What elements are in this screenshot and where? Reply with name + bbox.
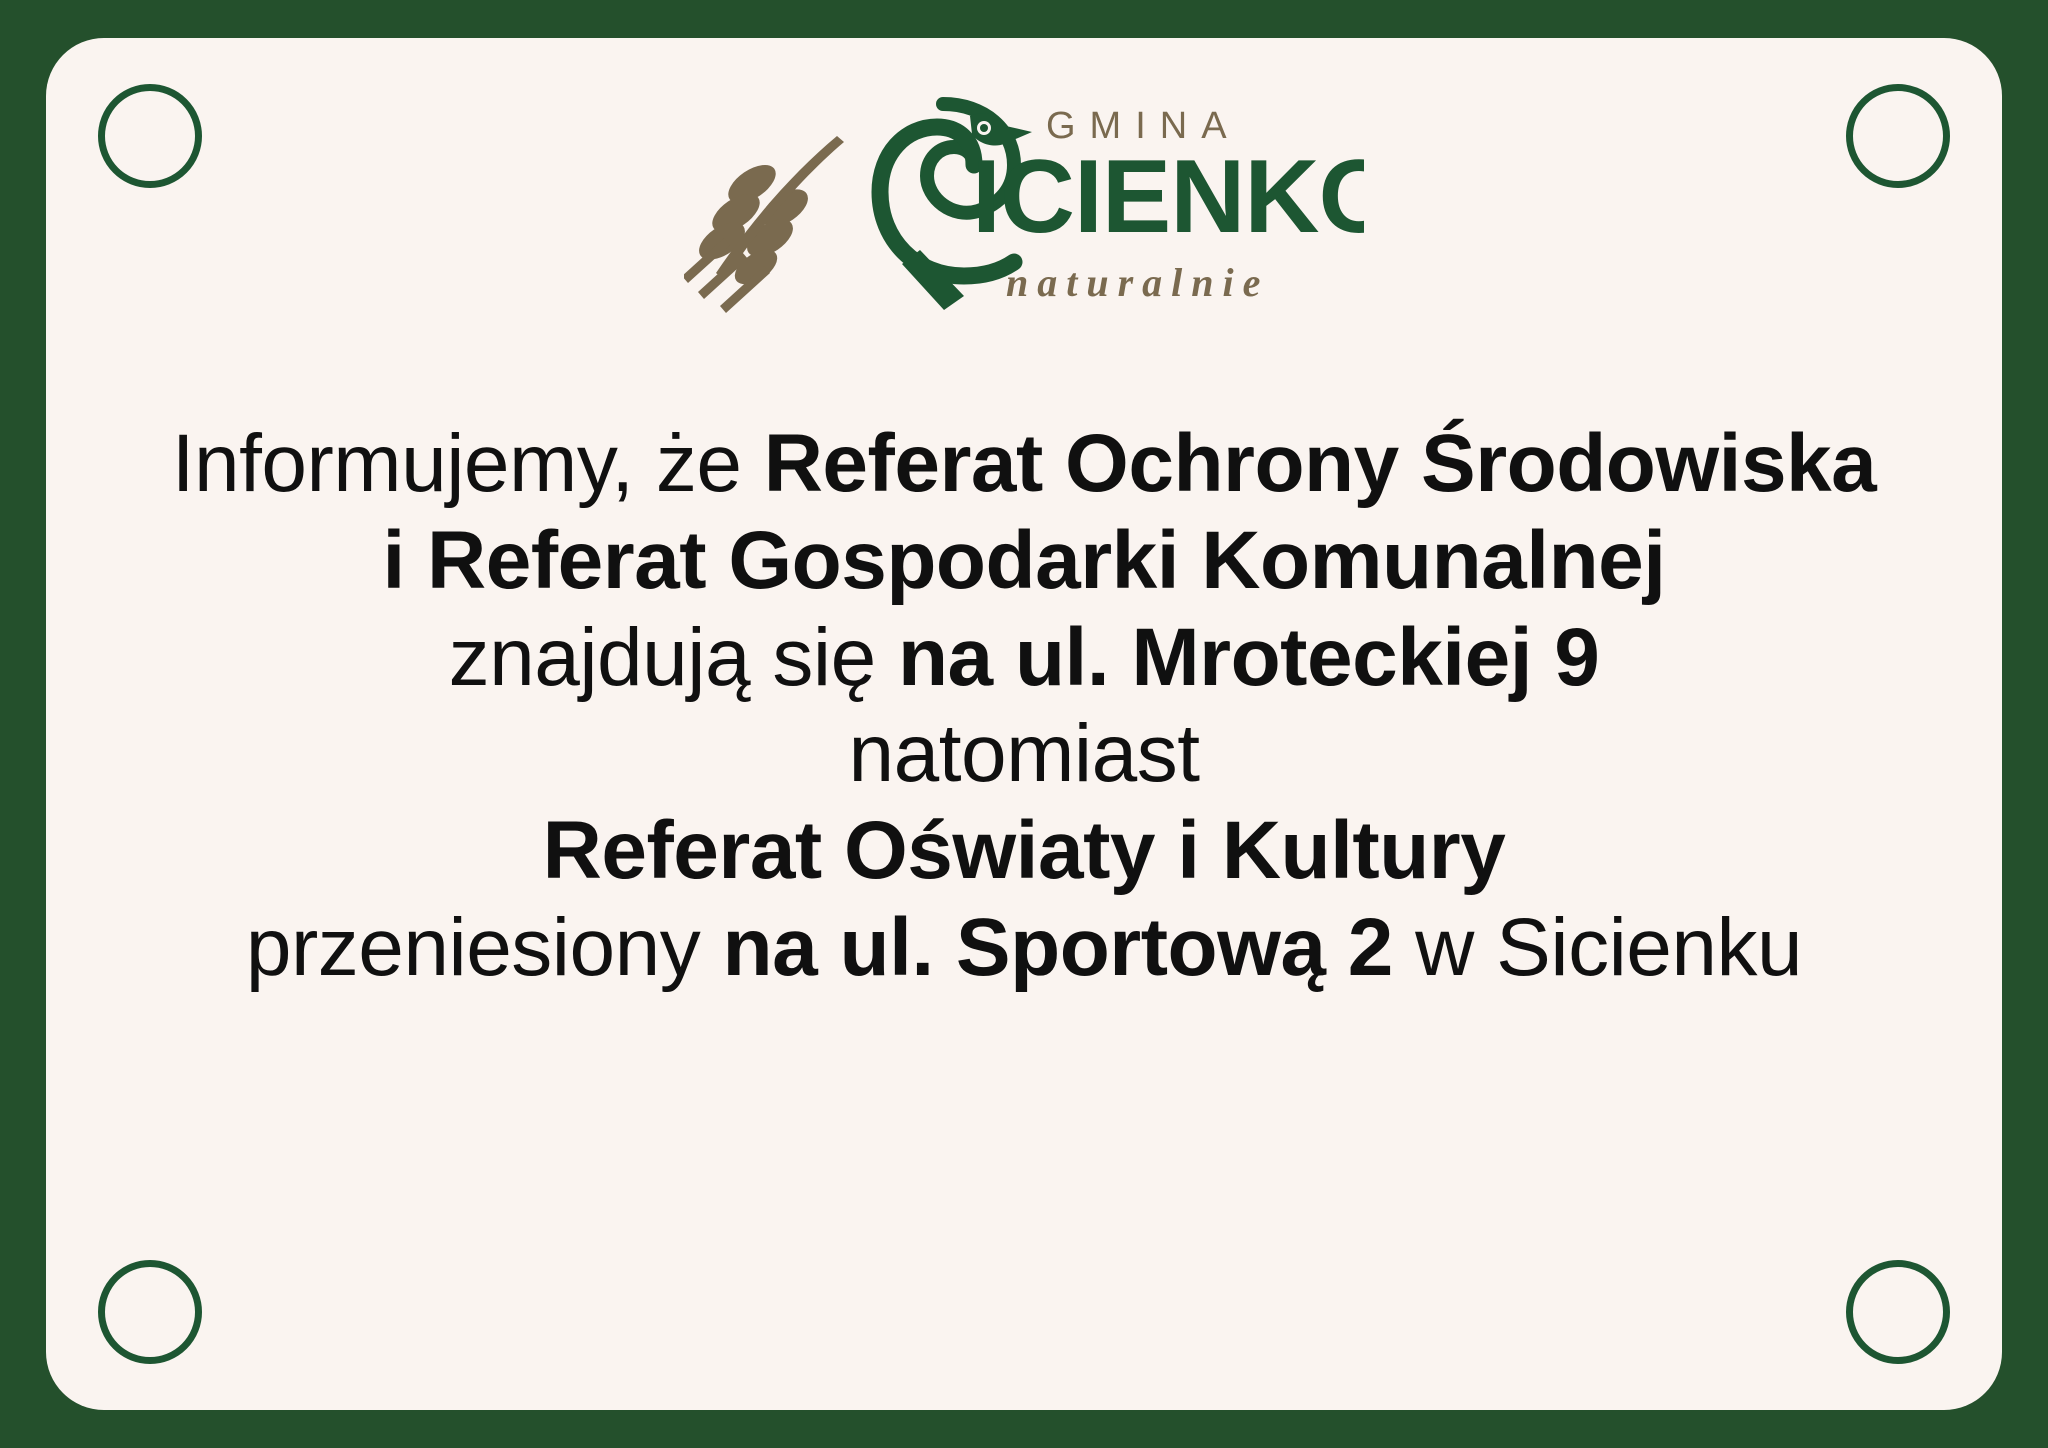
announcement-emphasis: na ul. Mroteckiej 9 [898,612,1599,703]
announcement-text: Informujemy, że Referat Ochrony Środowis… [104,416,1944,997]
announcement-line: przeniesiony na ul. Sportową 2 w Sicienk… [104,900,1944,997]
announcement-plain: Informujemy, że [172,418,764,509]
announcement-emphasis: Referat Ochrony Środowiska [764,418,1877,509]
rivet-ring-bottom-left [98,1260,202,1364]
announcement-plain: przeniesiony [246,902,723,993]
announcement-plain: znajdują się [449,612,898,703]
logo-main-text: ICIENKO [972,139,1364,255]
logo-svg: GMINA ICIENKO naturalnie [684,80,1364,320]
announcement-line: i Referat Gospodarki Komunalnej [104,513,1944,610]
rivet-ring-bottom-right [1846,1260,1950,1364]
announcement-line: natomiast [104,706,1944,803]
announcement-line: znajdują się na ul. Mroteckiej 9 [104,610,1944,707]
announcement-plain: w Sicienku [1393,902,1802,993]
gmina-sicienko-logo: GMINA ICIENKO naturalnie [684,80,1364,320]
announcement-emphasis: i Referat Gospodarki Komunalnej [382,515,1665,606]
wheat-ear-icon [684,136,844,313]
plaque-panel: GMINA ICIENKO naturalnie Informujemy, że… [46,38,2002,1410]
announcement-emphasis: Referat Oświaty i Kultury [543,805,1506,896]
rivet-ring-top-left [98,84,202,188]
logo-tagline-text: naturalnie [1006,260,1269,305]
rivet-ring-top-right [1846,84,1950,188]
announcement-line: Referat Oświaty i Kultury [104,803,1944,900]
announcement-emphasis: na ul. Sportową 2 [723,902,1393,993]
announcement-line: Informujemy, że Referat Ochrony Środowis… [104,416,1944,513]
announcement-poster: GMINA ICIENKO naturalnie Informujemy, że… [0,0,2048,1448]
announcement-plain: natomiast [848,708,1199,799]
